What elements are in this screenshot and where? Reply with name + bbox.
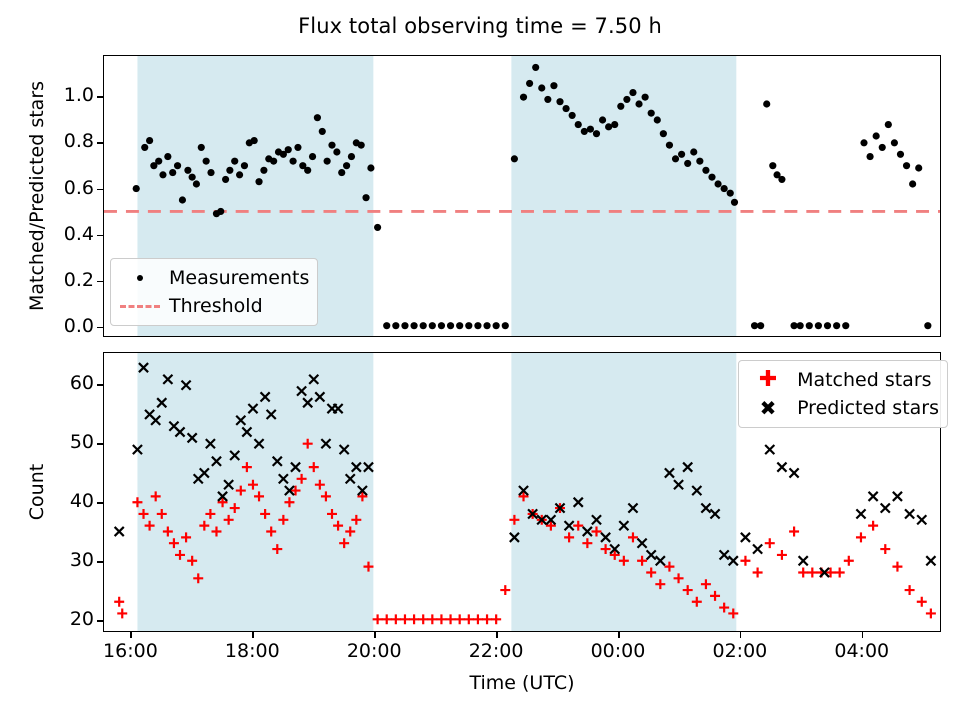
data-point <box>493 322 500 329</box>
data-point <box>660 130 667 137</box>
figure-canvas: Flux total observing time = 7.50 h 0.00.… <box>0 0 960 720</box>
data-point <box>159 171 166 178</box>
data-point <box>464 614 474 624</box>
data-point <box>410 322 417 329</box>
shaded-region <box>511 353 736 631</box>
xaxis-label: Time (UTC) <box>103 672 941 694</box>
plus-marker-icon: ✚ <box>745 369 791 391</box>
data-point <box>447 322 454 329</box>
data-point <box>807 568 817 578</box>
data-point <box>343 162 350 169</box>
data-point <box>314 114 321 121</box>
data-point <box>500 585 510 595</box>
data-point <box>133 185 140 192</box>
xtick-mark <box>618 632 620 638</box>
data-point <box>893 492 902 501</box>
ytick-label: 0.4 <box>64 225 94 244</box>
data-point <box>575 121 582 128</box>
data-point <box>777 463 786 472</box>
ytick-mark <box>97 384 103 386</box>
xtick-mark <box>862 632 864 638</box>
xtick-mark <box>496 632 498 638</box>
legend-item-measurements[interactable]: Measurements <box>117 264 309 292</box>
data-point <box>400 614 410 624</box>
data-point <box>193 180 200 187</box>
top-panel-ylabel: Matched/Predicted stars <box>26 55 48 337</box>
legend-label-matched-stars: Matched stars <box>791 369 931 391</box>
data-point <box>672 155 679 162</box>
data-point <box>526 80 533 87</box>
ytick-mark <box>97 327 103 329</box>
bottom-panel-ytick-labels: 2030405060 <box>8 352 94 632</box>
data-point <box>905 585 915 595</box>
data-point <box>835 568 845 578</box>
data-point <box>879 144 886 151</box>
data-point <box>236 171 243 178</box>
data-point <box>873 132 880 139</box>
xtick-label: 18:00 <box>207 641 297 662</box>
data-point <box>556 98 563 105</box>
ytick-mark <box>97 281 103 283</box>
data-point <box>392 322 399 329</box>
data-point <box>799 556 808 565</box>
data-point <box>383 322 390 329</box>
data-point <box>374 224 381 231</box>
ytick-label: 60 <box>70 374 94 393</box>
data-point <box>569 112 576 119</box>
ytick-label: 20 <box>70 610 94 629</box>
data-point <box>714 180 721 187</box>
data-point <box>544 96 551 103</box>
data-point <box>623 96 630 103</box>
data-point <box>654 116 661 123</box>
data-point <box>115 527 124 536</box>
data-point <box>391 614 401 624</box>
xtick-mark <box>740 632 742 638</box>
data-point <box>666 142 673 149</box>
data-point <box>815 322 822 329</box>
bottom-panel-legend: ✚ Matched stars ✖ Predicted stars <box>738 360 948 428</box>
data-point <box>611 121 618 128</box>
data-point <box>304 167 311 174</box>
data-point <box>338 169 345 176</box>
data-point <box>708 174 715 181</box>
threshold-dash-icon <box>117 305 163 308</box>
data-point <box>769 162 776 169</box>
data-point <box>885 121 892 128</box>
data-point <box>924 322 931 329</box>
data-point <box>642 94 649 101</box>
data-point <box>797 322 804 329</box>
legend-item-threshold[interactable]: Threshold <box>117 292 309 320</box>
data-point <box>538 84 545 91</box>
data-point <box>474 322 481 329</box>
data-point <box>420 322 427 329</box>
ytick-label: 30 <box>70 551 94 570</box>
data-point <box>438 322 445 329</box>
data-point <box>892 562 902 572</box>
data-point <box>289 158 296 165</box>
data-point <box>429 322 436 329</box>
data-point <box>146 137 153 144</box>
data-point <box>926 556 935 565</box>
data-point <box>844 556 854 566</box>
data-point <box>319 128 326 135</box>
data-point <box>629 89 636 96</box>
data-point <box>511 155 518 162</box>
data-point <box>294 144 301 151</box>
data-point <box>241 162 248 169</box>
figure-title: Flux total observing time = 7.50 h <box>0 14 960 38</box>
data-point <box>690 148 697 155</box>
legend-label-measurements: Measurements <box>163 267 309 289</box>
data-point <box>798 568 808 578</box>
data-point <box>456 322 463 329</box>
data-point <box>678 151 685 158</box>
data-point <box>731 199 738 206</box>
ytick-label: 40 <box>70 492 94 511</box>
data-point <box>207 169 214 176</box>
data-point <box>455 614 465 624</box>
ytick-label: 0.0 <box>64 317 94 336</box>
data-point <box>880 544 890 554</box>
data-point <box>260 167 267 174</box>
data-point <box>860 139 867 146</box>
xtick-mark <box>252 632 254 638</box>
data-point <box>917 515 926 524</box>
data-point <box>740 556 750 566</box>
ytick-label: 0.6 <box>64 179 94 198</box>
data-point <box>184 167 191 174</box>
data-point <box>502 322 509 329</box>
data-point <box>869 492 878 501</box>
xtick-label: 16:00 <box>85 641 175 662</box>
data-point <box>222 176 229 183</box>
data-point <box>753 544 762 553</box>
data-point <box>483 322 490 329</box>
data-point <box>418 614 428 624</box>
data-point <box>203 158 210 165</box>
bottom-panel-ylabel: Count <box>26 352 48 632</box>
data-point <box>635 100 642 107</box>
xtick-label: 02:00 <box>695 641 785 662</box>
data-point <box>909 180 916 187</box>
ytick-mark <box>97 620 103 622</box>
xtick-label: 20:00 <box>329 641 419 662</box>
data-point <box>198 144 205 151</box>
data-point <box>348 153 355 160</box>
data-point <box>777 550 787 560</box>
data-point <box>141 144 148 151</box>
data-point <box>401 322 408 329</box>
data-point <box>285 146 292 153</box>
data-point <box>482 614 492 624</box>
data-point <box>926 608 936 618</box>
data-point <box>367 164 374 171</box>
data-point <box>789 468 798 477</box>
data-point <box>905 509 914 518</box>
data-point <box>856 532 866 542</box>
data-point <box>891 139 898 146</box>
data-point <box>382 614 392 624</box>
data-point <box>866 153 873 160</box>
data-point <box>856 509 865 518</box>
data-point <box>231 158 238 165</box>
data-point <box>532 64 539 71</box>
data-point <box>702 167 709 174</box>
data-point <box>251 137 258 144</box>
data-point <box>903 162 910 169</box>
data-point <box>427 614 437 624</box>
legend-item-predicted-stars[interactable]: ✖ Predicted stars <box>745 394 939 422</box>
data-point <box>915 164 922 171</box>
top-panel-legend: Measurements Threshold <box>110 258 318 326</box>
data-point <box>309 153 316 160</box>
ytick-mark <box>97 561 103 563</box>
data-point <box>333 148 340 155</box>
data-point <box>806 322 813 329</box>
data-point <box>881 504 890 513</box>
legend-label-predicted-stars: Predicted stars <box>791 397 939 419</box>
data-point <box>358 142 365 149</box>
data-point <box>465 322 472 329</box>
ytick-mark <box>97 502 103 504</box>
data-point <box>727 190 734 197</box>
data-point <box>226 167 233 174</box>
data-point <box>648 110 655 117</box>
ytick-mark <box>97 443 103 445</box>
data-point <box>824 322 831 329</box>
data-point <box>550 82 557 89</box>
measurement-dot-icon <box>117 275 163 281</box>
ytick-mark <box>97 142 103 144</box>
xtick-label: 22:00 <box>451 641 541 662</box>
data-point <box>587 126 594 133</box>
data-point <box>520 94 527 101</box>
data-point <box>757 322 764 329</box>
data-point <box>174 162 181 169</box>
data-point <box>446 614 456 624</box>
ytick-label: 50 <box>70 433 94 452</box>
data-point <box>328 142 335 149</box>
xtick-label: 04:00 <box>817 641 907 662</box>
data-point <box>842 322 849 329</box>
data-point <box>721 185 728 192</box>
data-point <box>897 151 904 158</box>
ytick-label: 1.0 <box>64 86 94 105</box>
data-point <box>763 100 770 107</box>
shaded-region <box>137 353 373 631</box>
data-point <box>778 176 785 183</box>
data-point <box>114 597 124 607</box>
data-point <box>491 614 501 624</box>
data-point <box>593 130 600 137</box>
data-point <box>562 105 569 112</box>
ytick-mark <box>97 189 103 191</box>
data-point <box>684 160 691 167</box>
legend-item-matched-stars[interactable]: ✚ Matched stars <box>745 366 939 394</box>
data-point <box>155 158 162 165</box>
data-point <box>117 608 127 618</box>
data-point <box>169 169 176 176</box>
ytick-mark <box>97 96 103 98</box>
data-point <box>217 208 224 215</box>
ytick-label: 0.8 <box>64 132 94 151</box>
data-point <box>741 533 750 542</box>
data-point <box>833 322 840 329</box>
data-point <box>409 614 419 624</box>
data-point <box>696 158 703 165</box>
data-point <box>189 174 196 181</box>
data-point <box>179 196 186 203</box>
legend-label-threshold: Threshold <box>163 295 263 317</box>
ytick-label: 0.2 <box>64 271 94 290</box>
top-panel-ytick-labels: 0.00.20.40.60.81.0 <box>8 55 94 337</box>
data-point <box>789 527 799 537</box>
cross-marker-icon: ✖ <box>745 398 791 418</box>
xtick-mark <box>130 632 132 638</box>
data-point <box>436 614 446 624</box>
xtick-mark <box>374 632 376 638</box>
data-point <box>164 153 171 160</box>
data-point <box>765 538 775 548</box>
data-point <box>868 521 878 531</box>
data-point <box>473 614 483 624</box>
xtick-label: 00:00 <box>573 641 663 662</box>
data-point <box>765 445 774 454</box>
data-point <box>373 614 383 624</box>
ytick-mark <box>97 235 103 237</box>
data-point <box>617 103 624 110</box>
data-point <box>917 597 927 607</box>
data-point <box>753 568 763 578</box>
data-point <box>362 194 369 201</box>
data-point <box>599 116 606 123</box>
data-point <box>255 178 262 185</box>
data-point <box>270 158 277 165</box>
data-point <box>324 158 331 165</box>
